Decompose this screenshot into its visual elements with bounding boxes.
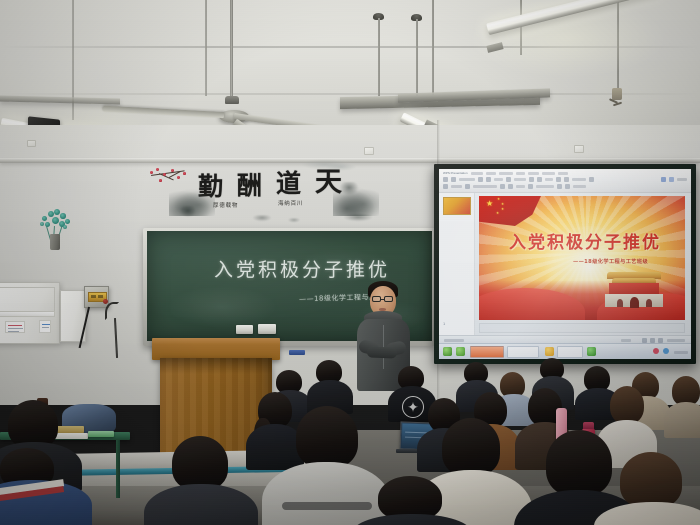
ink-pine-motif — [179, 206, 197, 218]
wall-socket[interactable] — [574, 145, 584, 153]
pendant-stem — [617, 0, 619, 88]
blackboard-title: 入党积极分子推优 — [214, 255, 390, 282]
pendant-stem — [520, 0, 522, 55]
taskbar-app-icon[interactable] — [456, 347, 465, 356]
calligraphy-seal-right: 海纳百川 — [278, 201, 303, 207]
jacket-graphic-star: ✦ — [405, 400, 421, 414]
thumbnail-index-label: 1 — [443, 321, 445, 326]
microphone-head — [103, 299, 108, 304]
pendant-stem — [416, 19, 418, 96]
notice-label — [5, 321, 25, 333]
chalk-box[interactable] — [236, 325, 253, 334]
calligraphy-char: 道 — [276, 171, 301, 196]
eyeglasses — [372, 296, 381, 302]
desk-leg — [116, 440, 120, 498]
cloud-wisp-motif — [325, 163, 357, 171]
ceiling-fan-mount — [225, 96, 239, 104]
calligraphy-char: 酬 — [237, 173, 262, 198]
fire-sprinkler — [612, 88, 622, 100]
slide-thumbnail-pane[interactable]: 1 — [439, 193, 475, 335]
ceiling-seam — [0, 46, 700, 48]
ink-flourish — [287, 218, 301, 223]
textbook[interactable] — [88, 431, 114, 437]
presenter-crossed-arms — [367, 346, 397, 358]
tiananmen-gate-icon — [603, 272, 665, 310]
plant-vase — [50, 234, 60, 250]
wall-electrical-box[interactable] — [84, 286, 109, 308]
notice-label — [39, 320, 51, 333]
presentation-status-bar[interactable] — [439, 335, 691, 343]
ink-pine-motif — [341, 214, 375, 222]
chalk-box[interactable] — [258, 324, 276, 334]
wall-socket[interactable] — [27, 140, 36, 147]
plum-branch-motif — [147, 164, 193, 186]
slide-thumbnail[interactable] — [443, 197, 471, 215]
thermos-cap — [583, 422, 594, 429]
ppt-slide[interactable]: ★ ★ ★ ★ ★ — [479, 196, 685, 320]
projection-screen[interactable]: WPS Presentation — [439, 169, 691, 359]
ink-pine-motif — [338, 182, 360, 196]
taskbar-window-button[interactable] — [557, 346, 583, 358]
ribbon-app-name: WPS Presentation — [443, 171, 468, 175]
ink-flourish — [251, 215, 273, 222]
presentation-app-ribbon[interactable]: WPS Presentation — [439, 169, 691, 193]
gooseneck-microphone[interactable] — [105, 302, 119, 320]
pendant-stem — [205, 0, 207, 96]
blackboard-eraser[interactable] — [289, 350, 305, 355]
hoodie-drawstring — [282, 502, 372, 510]
taskbar-window-button[interactable] — [470, 346, 504, 358]
taskbar-tray-icon[interactable] — [663, 348, 669, 354]
os-taskbar[interactable] — [439, 343, 691, 359]
wall-socket[interactable] — [364, 147, 374, 155]
podium-top — [152, 338, 280, 360]
calligraphy-seal-left: 厚德载物 — [213, 203, 238, 209]
ceiling-fan-rod — [230, 0, 233, 100]
wall-calligraphy-art: 勤 酬 道 天 厚德载物 海纳百川 — [145, 160, 375, 230]
pendant-stem — [378, 18, 380, 96]
notice-board-cabinet[interactable] — [0, 282, 60, 344]
taskbar-start-icon[interactable] — [443, 347, 452, 356]
eyeglasses — [384, 296, 393, 302]
eyeglasses-bridge — [381, 299, 384, 300]
taskbar-app-icon[interactable] — [587, 347, 596, 356]
presentation-work-area[interactable]: 1 ★ ★ ★ ★ ★ — [439, 193, 691, 335]
slide-subtitle: ——18级化学工程与工艺班级 — [573, 258, 648, 265]
ceiling-seam — [0, 93, 700, 95]
taskbar-clock — [674, 351, 688, 354]
taskbar-window-button[interactable] — [507, 346, 539, 358]
taskbar-tray-icon[interactable] — [653, 348, 659, 354]
slide-notes-pane[interactable] — [479, 323, 685, 333]
taskbar-app-icon[interactable] — [545, 347, 554, 356]
classroom-scene: 勤 酬 道 天 厚德载物 海纳百川 入党积极分子推优 ——18级化学工程与工艺班 — [0, 0, 700, 525]
slide-title: 入党积极分子推优 — [509, 228, 661, 253]
pendant-stem — [432, 0, 434, 96]
